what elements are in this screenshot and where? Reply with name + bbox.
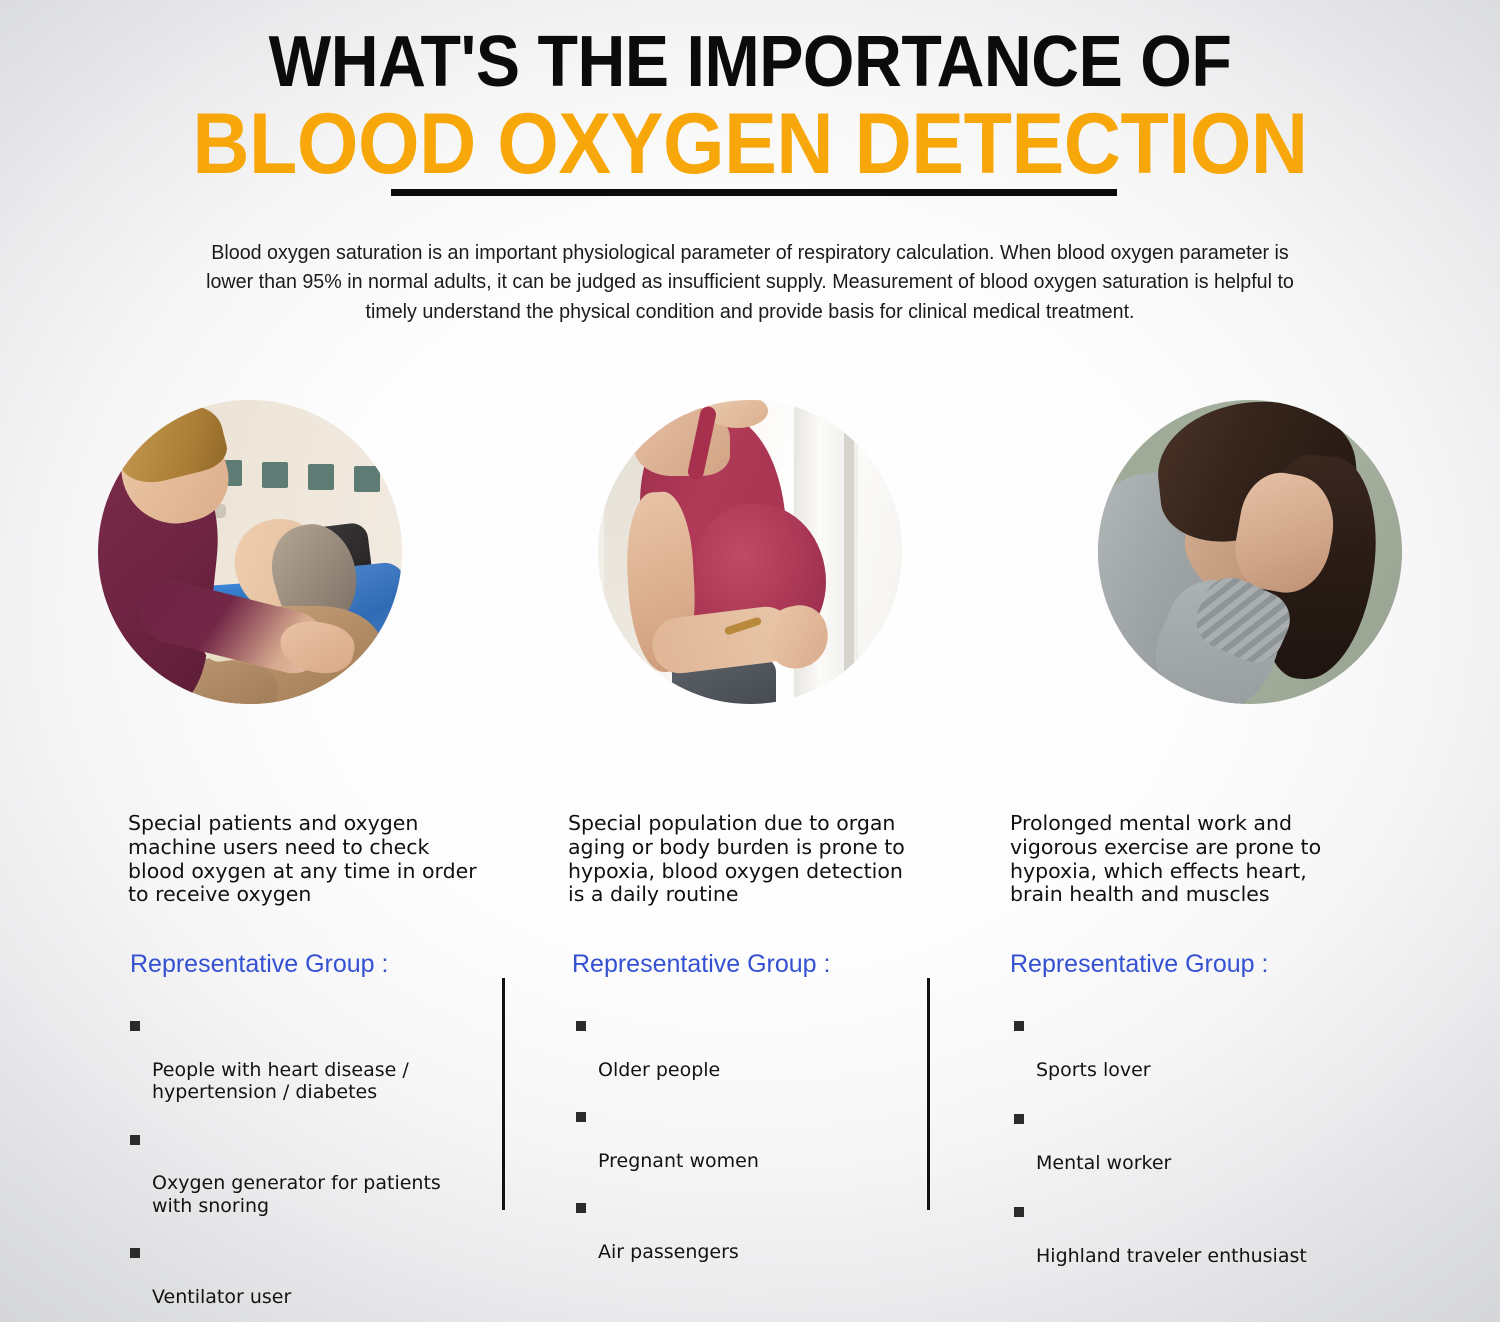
square-bullet-icon <box>130 1021 140 1031</box>
list-item-label: Ventilator user <box>152 1286 291 1308</box>
list-item-label: Sports lover <box>1036 1059 1151 1081</box>
list-item: Older people <box>576 1014 906 1081</box>
square-bullet-icon <box>576 1112 586 1122</box>
column-prolonged-mental-work: Prolonged mental work and vigorous exerc… <box>1000 400 1500 1280</box>
list-item: Air passengers <box>576 1196 906 1263</box>
square-bullet-icon <box>576 1203 586 1213</box>
intro-paragraph: Blood oxygen saturation is an important … <box>193 238 1307 326</box>
list-item: Sports lover <box>1014 1014 1374 1081</box>
pregnant-woman-photo <box>598 400 902 704</box>
title-line-highlight: BLOOD OXYGEN DETECTION <box>60 103 1440 186</box>
representative-group-list: Sports lover Mental worker Highland trav… <box>1014 1014 1374 1294</box>
representative-group-heading: Representative Group : <box>130 950 388 979</box>
column-special-patients: Special patients and oxygen machine user… <box>0 400 500 1280</box>
caregiver-and-wheelchair-patient-photo <box>98 400 402 704</box>
representative-group-list: Older people Pregnant women Air passenge… <box>576 1014 906 1288</box>
list-item: Highland traveler enthusiast <box>1014 1200 1374 1267</box>
list-item: Mental worker <box>1014 1107 1374 1174</box>
representative-group-heading: Representative Group : <box>572 950 830 979</box>
three-column-section: Special patients and oxygen machine user… <box>0 400 1500 1280</box>
square-bullet-icon <box>1014 1207 1024 1217</box>
list-item-label: Pregnant women <box>598 1150 759 1172</box>
stressed-woman-photo <box>1098 400 1402 704</box>
column-caption: Special population due to organ aging or… <box>568 812 948 907</box>
list-item: Oxygen generator for patients with snori… <box>130 1128 470 1218</box>
list-item: Pregnant women <box>576 1105 906 1172</box>
title-line-primary: WHAT'S THE IMPORTANCE OF <box>60 28 1440 97</box>
square-bullet-icon <box>130 1135 140 1145</box>
list-item-label: Mental worker <box>1036 1152 1171 1174</box>
page-title: WHAT'S THE IMPORTANCE OF BLOOD OXYGEN DE… <box>0 28 1500 186</box>
square-bullet-icon <box>130 1248 140 1258</box>
list-item-label: Oxygen generator for patients with snori… <box>152 1172 441 1216</box>
list-item-label: Air passengers <box>598 1241 739 1263</box>
representative-group-list: People with heart disease / hypertension… <box>130 1014 470 1322</box>
list-item-label: People with heart disease / hypertension… <box>152 1059 409 1103</box>
title-underline-rule <box>391 189 1117 196</box>
list-item-label: Highland traveler enthusiast <box>1036 1245 1307 1267</box>
square-bullet-icon <box>1014 1021 1024 1031</box>
list-item: People with heart disease / hypertension… <box>130 1014 470 1104</box>
column-special-population: Special population due to organ aging or… <box>500 400 1000 1280</box>
list-item: Ventilator user <box>130 1241 470 1308</box>
column-divider-left <box>502 978 505 1210</box>
column-caption: Prolonged mental work and vigorous exerc… <box>1010 812 1390 907</box>
square-bullet-icon <box>576 1021 586 1031</box>
column-divider-right <box>927 978 930 1210</box>
square-bullet-icon <box>1014 1114 1024 1124</box>
representative-group-heading: Representative Group : <box>1010 950 1268 979</box>
list-item-label: Older people <box>598 1059 720 1081</box>
column-caption: Special patients and oxygen machine user… <box>128 812 508 907</box>
